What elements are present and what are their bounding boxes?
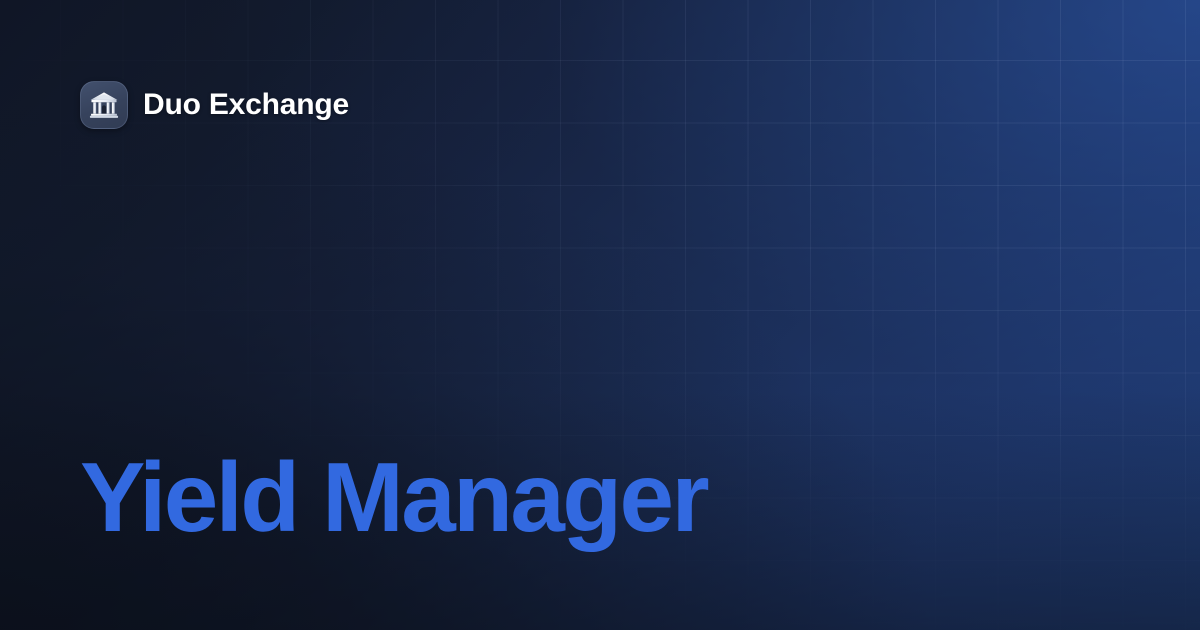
brand-logo-badge [80,81,128,129]
page-title: Yield Manager [80,443,707,553]
brand-name: Duo Exchange [143,90,349,120]
classical-building-icon [89,90,119,120]
brand-row: Duo Exchange [80,81,349,129]
og-banner: Duo Exchange Yield Manager [0,0,1200,630]
